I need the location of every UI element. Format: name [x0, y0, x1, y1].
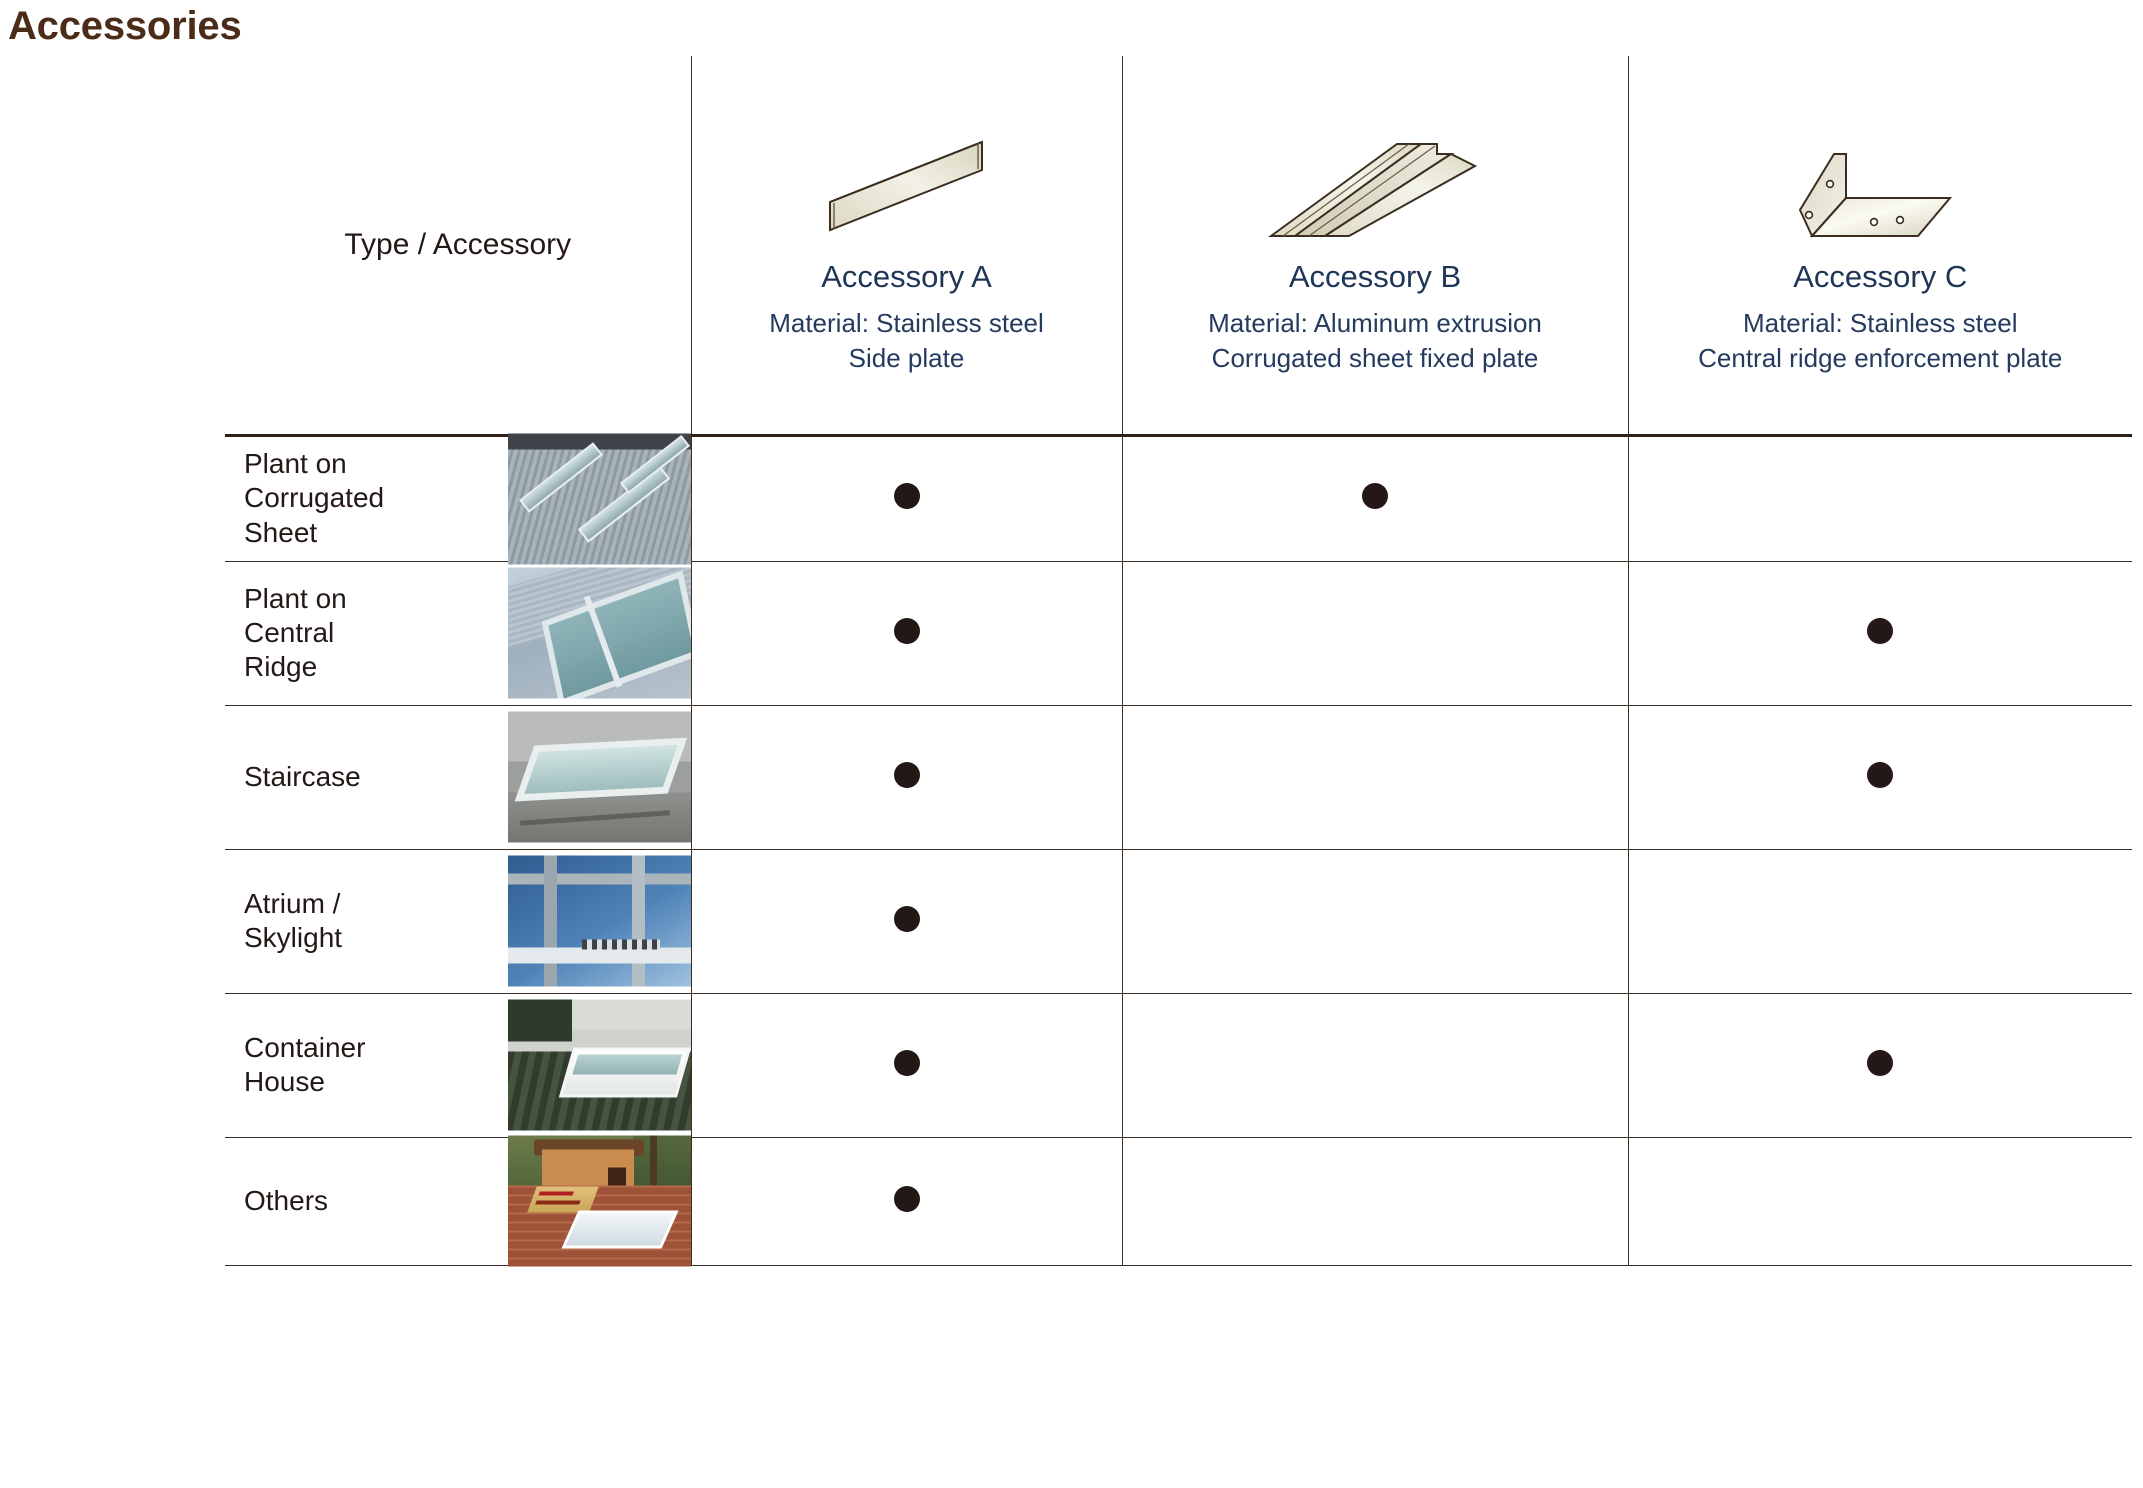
mark-r4-accessory-a [691, 849, 1122, 993]
table-row: Staircase [225, 705, 2132, 849]
accessory-a-name: Accessory A [821, 260, 992, 294]
mark-r2-accessory-b [1122, 561, 1628, 705]
mark-r6-accessory-c [1628, 1137, 2132, 1265]
row-label: Container House [225, 1031, 390, 1099]
accessories-page: Accessories Type / Accessory [0, 0, 2143, 1488]
table-row: Others [225, 1137, 2132, 1265]
bullet-mark [894, 483, 920, 509]
mark-r3-accessory-b [1122, 705, 1628, 849]
table-row: Plant on Corrugated Sheet [225, 435, 2132, 561]
mark-r4-accessory-b [1122, 849, 1628, 993]
row-label: Others [225, 1184, 390, 1218]
mark-r1-accessory-a [691, 435, 1122, 561]
row-header-staircase: Staircase [225, 705, 691, 849]
header-type-accessory: Type / Accessory [225, 56, 691, 435]
column-header-accessory-b: Accessory B Material: Aluminum extrusion… [1122, 56, 1628, 435]
accessory-a-description: Side plate [849, 341, 965, 375]
corrugated-roof-skylights-photo [508, 433, 691, 564]
mark-r2-accessory-a [691, 561, 1122, 705]
flat-side-plate-icon [822, 122, 992, 252]
atrium-skylight-photo [508, 856, 691, 987]
row-header-others: Others [225, 1137, 691, 1265]
accessory-b-description: Corrugated sheet fixed plate [1212, 341, 1539, 375]
mark-r5-accessory-c [1628, 993, 2132, 1137]
column-header-accessory-a: Accessory A Material: Stainless steel Si… [691, 56, 1122, 435]
page-title: Accessories [8, 4, 242, 48]
accessories-table: Type / Accessory [225, 56, 2132, 1266]
mark-r3-accessory-c [1628, 705, 2132, 849]
bullet-mark [1867, 1050, 1893, 1076]
column-header-accessory-c: Accessory C Material: Stainless steel Ce… [1628, 56, 2132, 435]
central-ridge-skylight-photo [508, 568, 691, 699]
bullet-mark [894, 1050, 920, 1076]
row-header-atrium-skylight: Atrium / Skylight [225, 849, 691, 993]
table-row: Plant on Central Ridge [225, 561, 2132, 705]
accessory-a-material: Material: Stainless steel [769, 306, 1044, 340]
mark-r6-accessory-b [1122, 1137, 1628, 1265]
bullet-mark [894, 906, 920, 932]
accessory-c-material: Material: Stainless steel [1743, 306, 2018, 340]
row-label: Atrium / Skylight [225, 887, 390, 955]
staircase-skylight-photo [508, 712, 691, 843]
mark-r4-accessory-c [1628, 849, 2132, 993]
accessory-b-material: Material: Aluminum extrusion [1208, 306, 1542, 340]
bullet-mark [894, 762, 920, 788]
bullet-mark [1362, 483, 1388, 509]
mark-r3-accessory-a [691, 705, 1122, 849]
accessory-c-name: Accessory C [1793, 260, 1967, 294]
accessory-c-description: Central ridge enforcement plate [1698, 341, 2062, 375]
bullet-mark [1867, 762, 1893, 788]
mark-r6-accessory-a [691, 1137, 1122, 1265]
bullet-mark [1867, 618, 1893, 644]
l-bracket-icon [1790, 122, 1970, 252]
row-header-plant-on-central-ridge: Plant on Central Ridge [225, 561, 691, 705]
accessory-b-name: Accessory B [1289, 260, 1461, 294]
mark-r5-accessory-a [691, 993, 1122, 1137]
mark-r2-accessory-c [1628, 561, 2132, 705]
row-label: Staircase [225, 760, 390, 794]
row-label: Plant on Central Ridge [225, 582, 390, 684]
mark-r1-accessory-c [1628, 435, 2132, 561]
row-header-container-house: Container House [225, 993, 691, 1137]
table-row: Atrium / Skylight [225, 849, 2132, 993]
extruded-profile-icon [1265, 122, 1485, 252]
table-row: Container House [225, 993, 2132, 1137]
mark-r5-accessory-b [1122, 993, 1628, 1137]
row-label: Plant on Corrugated Sheet [225, 447, 390, 549]
bullet-mark [894, 1186, 920, 1212]
container-house-photo [508, 1000, 691, 1131]
header-type-accessory-label: Type / Accessory [344, 228, 571, 261]
mark-r1-accessory-b [1122, 435, 1628, 561]
table-header-row: Type / Accessory [225, 56, 2132, 435]
bullet-mark [894, 618, 920, 644]
row-header-plant-on-corrugated-sheet: Plant on Corrugated Sheet [225, 435, 691, 561]
brick-terrace-skylight-photo [508, 1136, 691, 1267]
